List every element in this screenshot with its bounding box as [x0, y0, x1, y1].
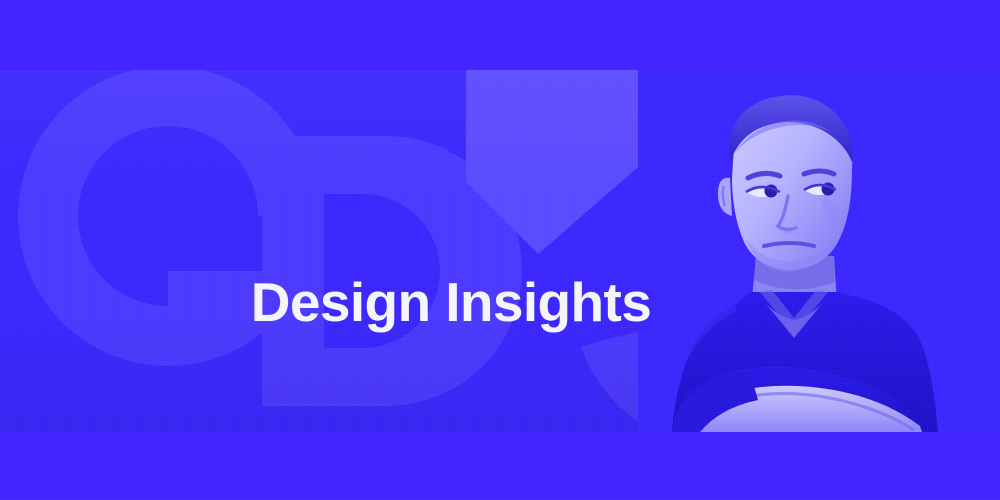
page-title: Design Insights — [0, 275, 902, 330]
artwork-stage: Design Insights @garethdavidstudio — [0, 70, 1000, 432]
portrait-photo — [638, 70, 1000, 432]
top-bar — [0, 0, 1000, 70]
design-insights-banner: Design Insights @garethdavidstudio — [0, 0, 1000, 500]
bottom-bar — [0, 432, 1000, 500]
